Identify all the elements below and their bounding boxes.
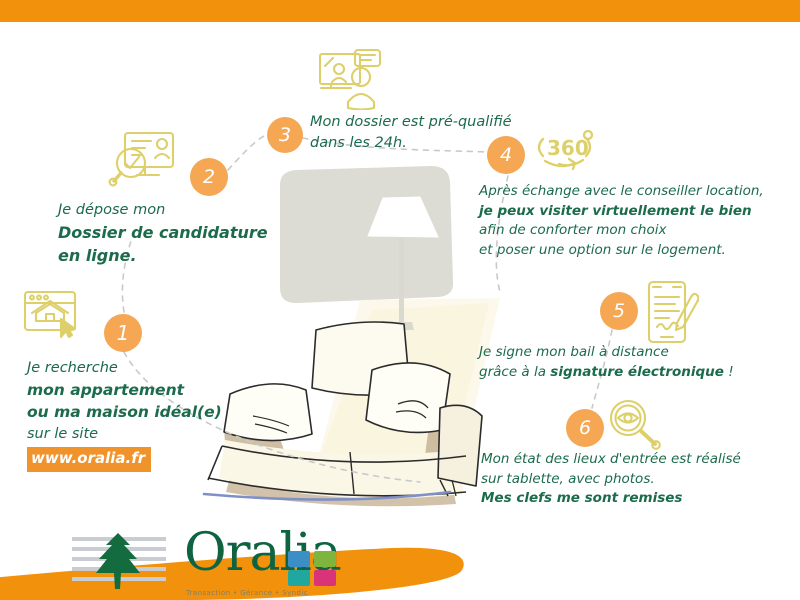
step-6-line-2: sur tablette, avec photos. — [481, 470, 741, 490]
step-5-line-2-post: ! — [724, 364, 734, 380]
badge-pink — [314, 570, 336, 586]
cushion-left-crease-2 — [255, 424, 287, 433]
step-3-text: Mon dossier est pré-qualifié dans les 24… — [310, 112, 512, 154]
video-call-advisor-icon — [317, 48, 383, 110]
oralia-website-link[interactable]: www.oralia.fr — [27, 447, 151, 472]
cushion-right-crease-2 — [396, 411, 426, 418]
sofa-leg-right — [440, 480, 448, 496]
top-orange-band — [0, 0, 800, 22]
badge-green — [314, 551, 336, 567]
profile-card-magnifier-check-icon — [107, 129, 179, 191]
cushion-right-crease-1 — [398, 401, 428, 408]
step-bubble-2[interactable]: 2 — [190, 158, 228, 196]
step-4-line-3: afin de conforter mon choix — [479, 221, 764, 241]
infographic-canvas: 1 2 3 4 5 6 — [0, 0, 800, 600]
step-bubble-3[interactable]: 3 — [267, 117, 303, 153]
lamp-light-cone-outer — [315, 298, 500, 492]
badge-blue — [288, 551, 310, 567]
step-3-line-1: Mon dossier est pré-qualifié — [310, 112, 512, 133]
lamp-light-cone — [321, 303, 489, 482]
step-2-line-1: Je dépose mon — [58, 200, 268, 221]
step-5-line-2-pre: grâce à la — [479, 364, 550, 380]
360-degree-view-icon: 360 — [531, 129, 599, 173]
step-2-line-3: en ligne. — [58, 244, 268, 267]
step-bubble-5[interactable]: 5 — [600, 292, 638, 330]
step-2-text: Je dépose mon Dossier de candidature en … — [58, 200, 268, 267]
connector-2-3 — [228, 134, 268, 170]
step-6-text: Mon état des lieux d'entrée est réalisé … — [481, 450, 741, 509]
certification-badges — [288, 551, 338, 587]
step-4-line-4: et poser une option sur le logement. — [479, 241, 764, 261]
sofa-shadow-seat — [226, 470, 456, 506]
logo-tagline: Transaction • Gérance • Syndic — [186, 589, 308, 597]
step-1-line-1: Je recherche — [27, 358, 222, 379]
lamp-shade — [368, 197, 438, 237]
step-4-line-2: je peux visiter virtuellement le bien — [479, 202, 764, 222]
step-5-line-1: Je signe mon bail à distance — [479, 343, 734, 363]
eye-magnifier-inspection-icon — [607, 398, 663, 450]
sofa-arm-right — [438, 405, 482, 486]
step-5-line-2-emphasis: signature électronique — [550, 364, 724, 380]
cushion-left — [224, 384, 312, 441]
step-1-line-3: ou ma maison idéal(e) — [27, 401, 222, 423]
oralia-logo[interactable]: Oralia Transaction • Gérance • Syndic — [66, 531, 174, 597]
step-2-line-2: Dossier de candidature — [58, 221, 268, 244]
lamp-stem — [399, 237, 404, 323]
sofa-seat-divider — [350, 452, 354, 494]
cushion-right — [366, 363, 450, 433]
browser-house-cursor-icon — [22, 289, 84, 341]
sofa-seat — [219, 440, 463, 498]
step-1-line-2: mon appartement — [27, 379, 222, 401]
badge-teal — [288, 570, 310, 586]
floor-line — [204, 492, 450, 500]
sofa-shadow-arm-right — [422, 414, 472, 484]
step-bubble-1[interactable]: 1 — [104, 314, 142, 352]
sofa-front-line — [208, 478, 466, 496]
tablet-signature-pen-icon — [645, 279, 699, 345]
step-1-text: Je recherche mon appartement ou ma maiso… — [27, 358, 222, 472]
step-6-line-1: Mon état des lieux d'entrée est réalisé — [481, 450, 741, 470]
step-6-line-3: Mes clefs me sont remises — [481, 489, 741, 509]
step-5-line-2: grâce à la signature électronique ! — [479, 363, 734, 383]
step-4-line-1: Après échange avec le conseiller locatio… — [479, 182, 764, 202]
sofa-back — [312, 322, 410, 395]
cushion-left-crease-1 — [253, 416, 289, 426]
sofa-seat-line — [222, 446, 466, 462]
step-4-text: Après échange avec le conseiller locatio… — [479, 182, 764, 260]
360-icon-label: 360 — [547, 136, 589, 160]
step-3-line-2: dans les 24h. — [310, 133, 512, 154]
step-1-line-4: sur le site — [27, 424, 222, 445]
sofa-shadow-arm-left — [224, 415, 284, 456]
step-bubble-6[interactable]: 6 — [566, 409, 604, 447]
step-5-text: Je signe mon bail à distance grâce à la … — [479, 343, 734, 382]
wall-panel — [280, 166, 453, 303]
sofa-leg-right-2 — [452, 480, 456, 496]
tree-icon — [66, 531, 174, 593]
lamp-base — [390, 322, 414, 330]
